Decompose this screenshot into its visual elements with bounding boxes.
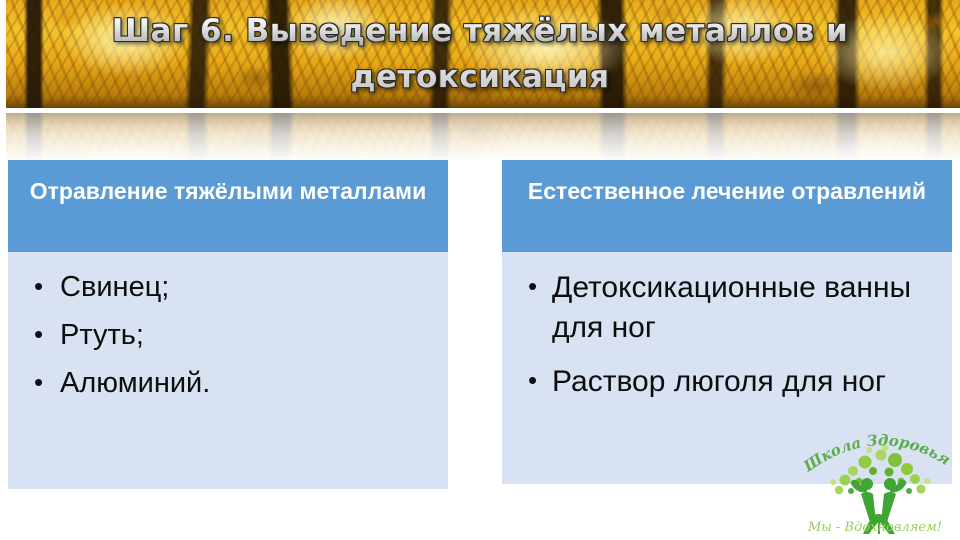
panel-poisoning-body: Свинец; Ртуть; Алюминий.: [8, 252, 448, 489]
two-people-figure-icon: [851, 478, 907, 534]
list-item: Ртуть;: [18, 316, 438, 354]
list-item: Детоксикационные ванны для ног: [512, 268, 942, 348]
forest-reflection-artwork: [6, 113, 960, 160]
list-item: Раствор люголя для ног: [512, 362, 942, 402]
list-item: Свинец;: [18, 268, 438, 306]
list-item: Алюминий.: [18, 364, 438, 402]
treatment-bullet-list: Детоксикационные ванны для ног Раствор л…: [512, 268, 942, 402]
panel-poisoning-header: Отравление тяжёлыми металлами: [8, 160, 448, 252]
panel-natural-treatment-body: Детоксикационные ванны для ног Раствор л…: [502, 252, 952, 484]
forest-reflection: [6, 113, 960, 160]
forest-artwork: [6, 0, 960, 108]
panel-natural-treatment-header: Естественное лечение отравлений: [502, 160, 952, 252]
autumn-forest-photo: [6, 0, 960, 108]
header-banner: [6, 0, 960, 160]
panel-natural-treatment: Естественное лечение отравлений Детоксик…: [502, 160, 952, 484]
poisoning-bullet-list: Свинец; Ртуть; Алюминий.: [18, 268, 438, 402]
panel-poisoning: Отравление тяжёлыми металлами Свинец; Рт…: [8, 160, 448, 489]
logo-tagline: Мы - Вдохновляем!: [807, 520, 942, 535]
